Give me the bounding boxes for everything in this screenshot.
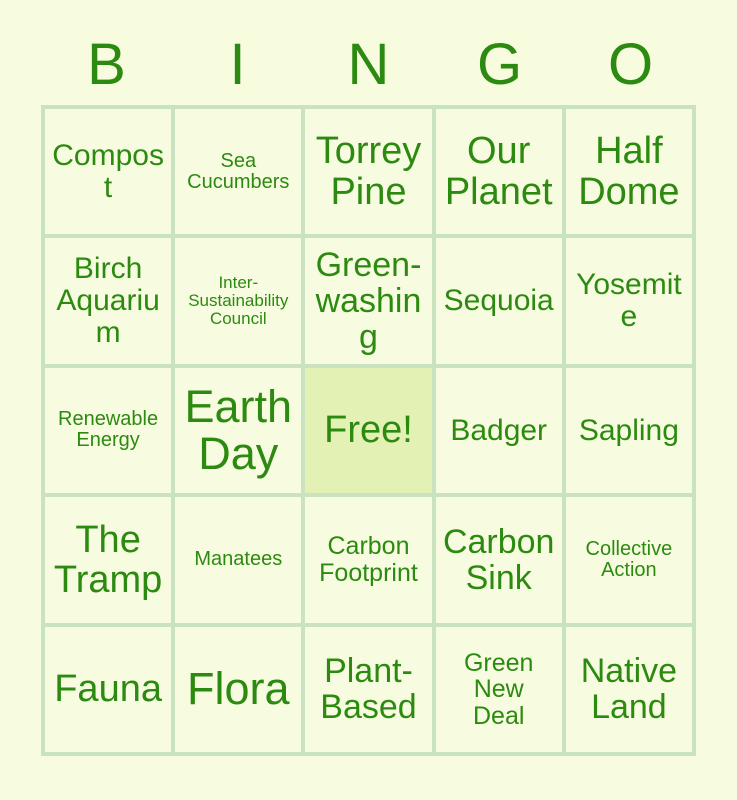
bingo-cell[interactable]: Renewable Energy [45, 368, 171, 493]
bingo-cell-label: Collective Action [586, 539, 673, 581]
bingo-cell[interactable]: Collective Action [566, 497, 692, 622]
bingo-cell-label: Sequoia [444, 285, 554, 317]
bingo-cell[interactable]: The Tramp [45, 497, 171, 622]
bingo-cell-label: Native Land [581, 653, 677, 725]
bingo-cell-label: Green- washing [309, 247, 427, 355]
bingo-cell-label: Half Dome [578, 131, 679, 212]
bingo-cell-label: Manatees [194, 549, 282, 570]
bingo-cell[interactable]: Manatees [175, 497, 301, 622]
bingo-header-letter-b: B [41, 26, 172, 104]
bingo-cell[interactable]: Half Dome [566, 109, 692, 234]
bingo-header-letter-i: I [172, 26, 303, 104]
bingo-header-row: BINGO [41, 26, 696, 104]
bingo-cell-label: Sea Cucumbers [187, 151, 289, 193]
bingo-cell-free[interactable]: Free! [305, 368, 431, 493]
bingo-grid: CompostSea CucumbersTorrey PineOur Plane… [41, 105, 696, 756]
bingo-cell[interactable]: Torrey Pine [305, 109, 431, 234]
bingo-cell-label: Compost [49, 140, 167, 204]
bingo-cell-label: Fauna [54, 669, 162, 709]
bingo-cell[interactable]: Sapling [566, 368, 692, 493]
bingo-cell-label: Carbon Footprint [319, 533, 418, 586]
bingo-cell-label: Plant- Based [320, 653, 416, 725]
bingo-cell[interactable]: Our Planet [436, 109, 562, 234]
bingo-cell-label: The Tramp [54, 520, 162, 601]
bingo-cell[interactable]: Badger [436, 368, 562, 493]
bingo-header-letter-o: O [565, 26, 696, 104]
bingo-cell[interactable]: Green New Deal [436, 627, 562, 752]
bingo-cell[interactable]: Inter- Sustainability Council [175, 238, 301, 363]
bingo-cell-label: Our Planet [445, 131, 553, 212]
bingo-cell-label: Flora [187, 665, 290, 713]
bingo-cell-label: Yosemite [570, 269, 688, 333]
bingo-cell-label: Earth Day [185, 383, 293, 478]
bingo-cell[interactable]: Native Land [566, 627, 692, 752]
bingo-cell[interactable]: Plant- Based [305, 627, 431, 752]
bingo-cell[interactable]: Compost [45, 109, 171, 234]
bingo-cell-label: Birch Aquarium [49, 253, 167, 348]
bingo-cell[interactable]: Green- washing [305, 238, 431, 363]
bingo-cell-label: Renewable Energy [58, 409, 158, 451]
bingo-cell-label: Badger [450, 415, 547, 447]
bingo-cell-label: Carbon Sink [443, 524, 555, 596]
bingo-cell[interactable]: Sea Cucumbers [175, 109, 301, 234]
bingo-cell[interactable]: Yosemite [566, 238, 692, 363]
bingo-header-letter-g: G [434, 26, 565, 104]
bingo-cell-label: Green New Deal [464, 650, 533, 730]
bingo-cell-label: Free! [324, 410, 413, 450]
bingo-cell[interactable]: Birch Aquarium [45, 238, 171, 363]
bingo-cell-label: Sapling [579, 415, 679, 447]
bingo-cell[interactable]: Earth Day [175, 368, 301, 493]
bingo-cell[interactable]: Flora [175, 627, 301, 752]
bingo-cell[interactable]: Fauna [45, 627, 171, 752]
bingo-cell[interactable]: Carbon Sink [436, 497, 562, 622]
bingo-cell-label: Torrey Pine [316, 131, 422, 212]
bingo-card: BINGO CompostSea CucumbersTorrey PineOur… [0, 0, 737, 800]
bingo-cell[interactable]: Carbon Footprint [305, 497, 431, 622]
bingo-cell[interactable]: Sequoia [436, 238, 562, 363]
bingo-cell-label: Inter- Sustainability Council [188, 274, 288, 328]
bingo-header-letter-n: N [303, 26, 434, 104]
